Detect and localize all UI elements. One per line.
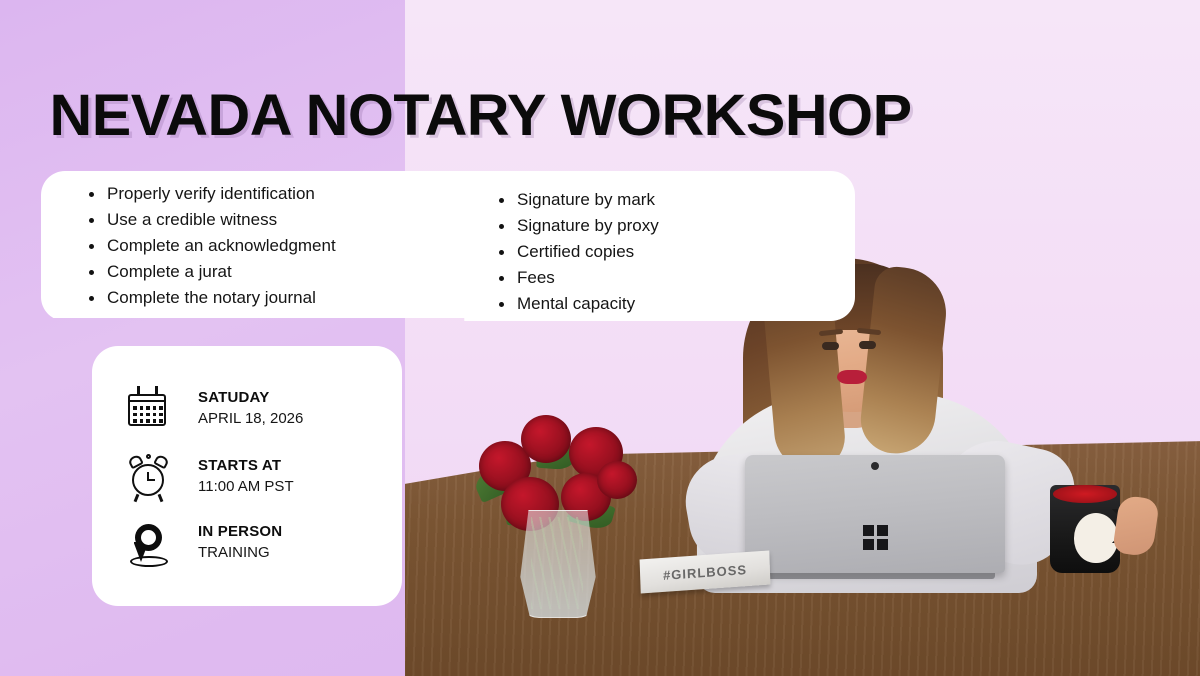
list-item: Complete a jurat (87, 259, 491, 285)
detail-title: IN PERSON (198, 522, 282, 542)
detail-row-date: SATUDAY APRIL 18, 2026 (126, 384, 303, 434)
list-item: Properly verify identification (87, 181, 491, 207)
topics-content: Properly verify identification Use a cre… (41, 171, 855, 323)
detail-subtitle: 11:00 AM PST (198, 476, 294, 498)
detail-title: SATUDAY (198, 388, 303, 408)
list-item: Complete an acknowledgment (87, 233, 491, 259)
lips (837, 370, 867, 384)
alarm-clock-icon (126, 452, 172, 502)
event-details-card: SATUDAY APRIL 18, 2026 STARTS AT 11:00 A… (92, 346, 402, 606)
laptop-camera (871, 462, 879, 470)
page-title: NEVADA NOTARY WORKSHOP (50, 82, 912, 149)
rose (597, 461, 637, 499)
detail-title: STARTS AT (198, 456, 294, 476)
eye-left (822, 342, 839, 350)
flyer-canvas: #GIRLBOSS NEVADA NOTARY WORKSHOP Properl… (0, 0, 1200, 676)
list-item: Complete the notary journal (87, 285, 491, 311)
rose-bouquet (465, 405, 655, 620)
coffee-mug (1050, 485, 1136, 573)
list-item: Mental capacity (497, 291, 855, 317)
topics-column-left: Properly verify identification Use a cre… (41, 171, 491, 323)
list-item: Certified copies (497, 239, 855, 265)
topics-list-left: Properly verify identification Use a cre… (87, 181, 491, 311)
topics-list-right: Signature by mark Signature by proxy Cer… (497, 187, 855, 317)
rose (521, 415, 571, 463)
glass-vase (517, 510, 599, 618)
list-item: Use a credible witness (87, 207, 491, 233)
list-item: Fees (497, 265, 855, 291)
desk-sign-text: #GIRLBOSS (663, 562, 747, 583)
mug-rim (1053, 485, 1117, 503)
eye-right (859, 341, 876, 349)
calendar-icon (126, 384, 172, 434)
detail-subtitle: TRAINING (198, 542, 282, 564)
surface-laptop (745, 455, 1005, 585)
list-item: Signature by proxy (497, 213, 855, 239)
laptop-lid (745, 455, 1005, 573)
map-pin-icon (126, 518, 172, 568)
topics-column-right: Signature by mark Signature by proxy Cer… (491, 171, 855, 323)
detail-row-location: IN PERSON TRAINING (126, 518, 282, 568)
windows-logo-icon (863, 525, 889, 551)
list-item: Signature by mark (497, 187, 855, 213)
detail-subtitle: APRIL 18, 2026 (198, 408, 303, 430)
detail-row-time: STARTS AT 11:00 AM PST (126, 452, 294, 502)
